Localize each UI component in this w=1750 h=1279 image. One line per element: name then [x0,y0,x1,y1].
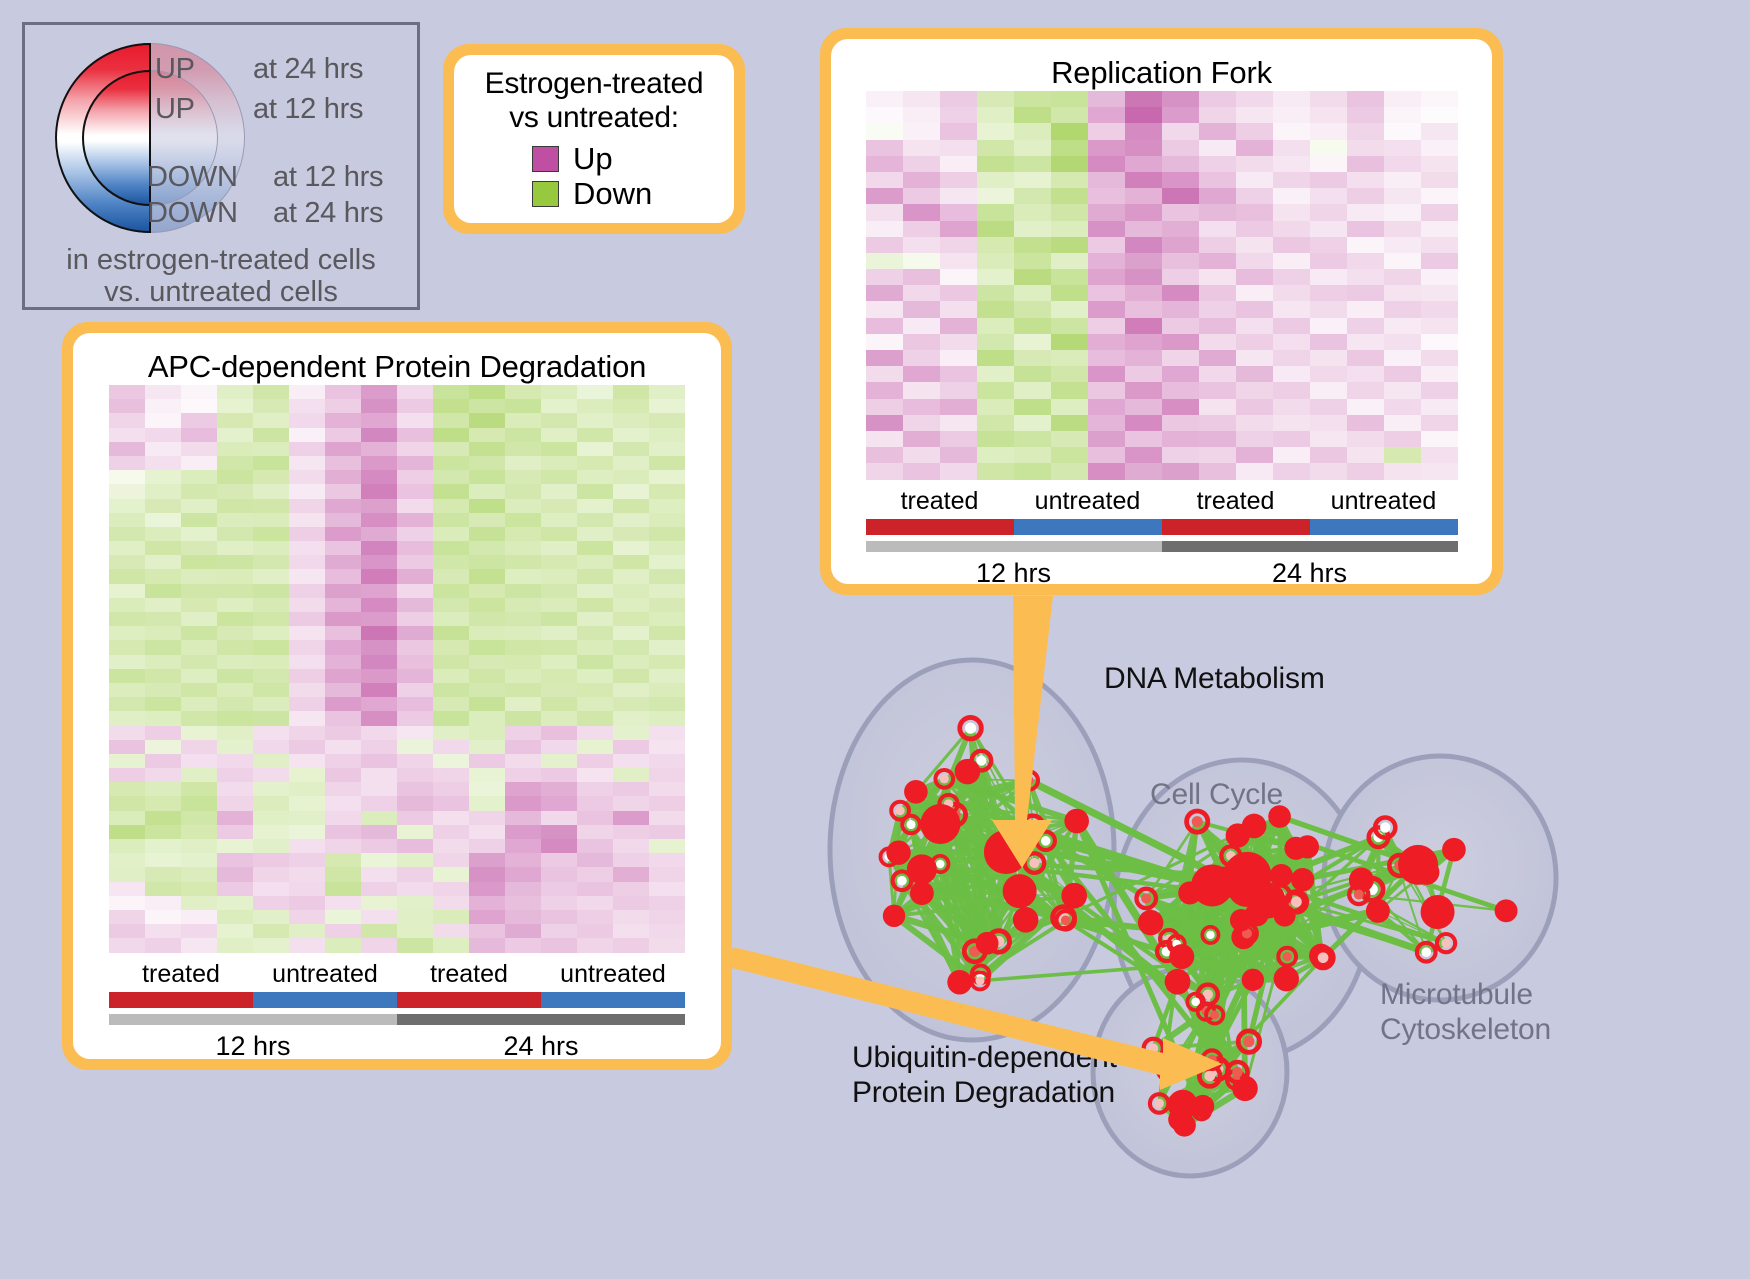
heat-cell [397,413,433,427]
heat-cell [577,683,613,697]
rf-time-bar-12 [866,541,1162,552]
heat-cell [505,399,541,413]
heat-cell [181,385,217,399]
heat-cell [1236,123,1273,139]
heat-cell [940,366,977,382]
heat-cell [361,612,397,626]
heat-cell [1310,366,1347,382]
network-node[interactable] [1495,899,1518,922]
heat-cell [1347,399,1384,415]
heat-cell [505,825,541,839]
network-node[interactable] [1250,882,1286,918]
heat-cell [145,569,181,583]
legend-title-line2: vs untreated: [454,101,734,135]
network-node[interactable] [883,905,905,927]
estrogen-legend-panel: Estrogen-treated vs untreated: Up Down [443,44,745,234]
cluster-label-ubiquitin: Ubiquitin-dependent Protein Degradation [852,1040,1117,1111]
network-node[interactable] [976,932,999,955]
heat-cell [1199,269,1236,285]
apc-group-2: treated [397,960,541,989]
heat-cell [1162,447,1199,463]
heat-cell [903,334,940,350]
heat-cell [397,598,433,612]
heat-cell [253,867,289,881]
network-node[interactable] [1013,907,1039,933]
heat-cell [1014,463,1051,479]
heat-cell [469,442,505,456]
heat-cell [649,782,685,796]
heat-cell [505,484,541,498]
heat-cell [1088,156,1125,172]
heat-cell [289,442,325,456]
heat-cell [181,470,217,484]
heat-cell [325,499,361,513]
heat-cell [433,726,469,740]
heat-cell [577,655,613,669]
heat-cell [433,938,469,952]
heat-cell [505,711,541,725]
heat-cell [325,555,361,569]
network-node-core [920,804,960,844]
heat-cell [109,541,145,555]
heat-cell [1236,156,1273,172]
heat-cell [289,626,325,640]
network-node[interactable] [1064,809,1089,834]
heat-cell [361,726,397,740]
heat-cell [1347,221,1384,237]
heat-cell [1384,415,1421,431]
heat-cell [866,285,903,301]
heat-cell [649,527,685,541]
heat-cell [1125,366,1162,382]
network-node[interactable] [1165,969,1191,995]
heat-cell [1310,463,1347,479]
heat-cell [1347,204,1384,220]
network-node-core [1250,882,1286,918]
heat-cell [253,896,289,910]
heat-cell [289,697,325,711]
heat-cell [940,301,977,317]
heat-cell [649,385,685,399]
heat-cell [469,555,505,569]
heat-cell [577,470,613,484]
heat-cell [1125,188,1162,204]
heat-cell [397,896,433,910]
heat-cell [903,463,940,479]
network-node-core [883,905,905,927]
heat-cell [613,896,649,910]
heat-cell [577,669,613,683]
network-node[interactable] [1398,845,1438,885]
heat-cell [1273,399,1310,415]
heat-cell [1273,301,1310,317]
network-node[interactable] [955,759,981,785]
network-node[interactable] [947,970,972,995]
network-node[interactable] [1442,838,1466,862]
up-swatch-icon [532,146,559,172]
heat-cell [145,584,181,598]
network-node[interactable] [1366,899,1390,923]
heat-cell [1310,172,1347,188]
heat-cell [866,172,903,188]
heat-cell [397,768,433,782]
heat-cell [903,107,940,123]
heat-cell [469,612,505,626]
network-node[interactable] [1291,868,1314,891]
heat-cell [649,839,685,853]
heat-cell [1162,172,1199,188]
heat-cell [217,669,253,683]
heat-cell [217,811,253,825]
heat-cell [505,896,541,910]
heat-cell [1384,463,1421,479]
network-node-core [910,881,934,905]
heat-cell [1310,221,1347,237]
heat-cell [1310,91,1347,107]
heat-cell [109,655,145,669]
heat-cell [397,683,433,697]
heat-cell [649,484,685,498]
heat-cell [181,924,217,938]
heat-cell [541,726,577,740]
heat-cell [253,442,289,456]
heat-cell [433,399,469,413]
network-node-core [965,723,976,734]
network-node-core [1168,1090,1198,1120]
heat-cell [1273,188,1310,204]
heat-cell [253,882,289,896]
heat-cell [1273,91,1310,107]
network-node-core [936,860,945,869]
heat-cell [289,740,325,754]
heat-cell [253,612,289,626]
heat-cell [977,91,1014,107]
heat-cell [541,910,577,924]
heat-cell [253,470,289,484]
network-node[interactable] [1169,944,1194,969]
apc-time-12: 12 hrs [109,1031,397,1060]
heat-cell [469,484,505,498]
network-node[interactable] [1210,866,1242,898]
heat-cell [1125,237,1162,253]
heat-cell [1162,123,1199,139]
heat-cell [361,669,397,683]
heat-cell [361,882,397,896]
network-node-core [1442,838,1466,862]
heat-cell [253,598,289,612]
heat-cell [1051,334,1088,350]
heat-cell [1162,334,1199,350]
heat-cell [469,697,505,711]
heat-cell [433,484,469,498]
heat-cell [541,484,577,498]
network-node[interactable] [907,854,937,884]
heat-cell [289,513,325,527]
heat-cell [361,470,397,484]
rf-bar-treated-12 [866,519,1014,535]
heat-cell [1088,350,1125,366]
heat-cell [1273,463,1310,479]
heat-cell [613,740,649,754]
heat-cell [109,782,145,796]
heat-cell [1051,188,1088,204]
heat-cell [649,513,685,527]
heat-cell [253,640,289,654]
network-node[interactable] [1284,837,1307,860]
heat-cell [1125,447,1162,463]
heat-cell [1125,156,1162,172]
heat-cell [253,584,289,598]
heat-cell [325,669,361,683]
heat-cell [433,569,469,583]
heat-cell [469,882,505,896]
heat-cell [613,385,649,399]
heat-cell [866,366,903,382]
heat-cell [613,825,649,839]
network-node[interactable] [1274,966,1299,991]
heat-cell [577,456,613,470]
heat-cell [1310,301,1347,317]
heat-cell [469,470,505,484]
heat-cell [1310,399,1347,415]
heat-cell [1273,253,1310,269]
heat-cell [361,796,397,810]
heat-cell [397,811,433,825]
heat-cell [613,811,649,825]
heat-cell [577,697,613,711]
heat-cell [613,428,649,442]
heat-cell [289,711,325,725]
heat-cell [541,697,577,711]
heat-cell [613,584,649,598]
heat-cell [613,484,649,498]
heat-cell [866,237,903,253]
heat-cell [1199,107,1236,123]
network-node[interactable] [1242,969,1264,991]
heat-cell [866,140,903,156]
heat-cell [940,172,977,188]
heat-cell [361,896,397,910]
heat-cell [469,754,505,768]
network-node-core [1013,907,1039,933]
heat-cell [469,598,505,612]
heat-cell [397,555,433,569]
heat-cell [289,584,325,598]
heat-cell [289,484,325,498]
heat-cell [541,527,577,541]
heat-cell [1199,237,1236,253]
heat-cell [977,285,1014,301]
heat-cell [613,655,649,669]
heat-cell [1199,431,1236,447]
heat-cell [977,301,1014,317]
cluster-label-cell-cycle: Cell Cycle [1150,778,1283,812]
network-node-core [1274,966,1299,991]
heat-cell [145,541,181,555]
heat-cell [903,285,940,301]
heat-cell [325,484,361,498]
rf-time-24: 24 hrs [1162,558,1458,585]
heat-cell [397,584,433,598]
heat-cell [1125,382,1162,398]
heat-cell [325,626,361,640]
heat-cell [109,640,145,654]
network-node[interactable] [1061,883,1087,909]
network-node[interactable] [910,881,934,905]
heat-cell [1199,188,1236,204]
heat-cell [1347,156,1384,172]
heat-cell [541,584,577,598]
heat-cell [325,683,361,697]
heat-cell [397,569,433,583]
heat-cell [1421,366,1458,382]
network-node[interactable] [1168,1090,1198,1120]
network-node[interactable] [920,804,960,844]
heat-cell [145,470,181,484]
heat-cell [217,612,253,626]
heat-cell [1310,318,1347,334]
heat-cell [866,221,903,237]
heat-cell [613,569,649,583]
network-node[interactable] [886,840,910,864]
heat-cell [145,598,181,612]
heat-cell [433,527,469,541]
heat-cell [1310,350,1347,366]
heat-cell [253,754,289,768]
rf-time-color-bar [866,541,1458,552]
heat-cell [1273,221,1310,237]
heat-cell [1125,318,1162,334]
heat-cell [577,782,613,796]
heat-cell [433,853,469,867]
heat-cell [613,598,649,612]
heat-cell [361,399,397,413]
heat-cell [613,499,649,513]
heat-cell [397,938,433,952]
heat-cell [253,910,289,924]
heat-cell [613,726,649,740]
heat-cell [181,499,217,513]
heat-cell [1051,415,1088,431]
heat-cell [469,896,505,910]
heat-cell [977,366,1014,382]
network-node-core [906,820,915,829]
heat-cell [289,796,325,810]
heat-cell [325,527,361,541]
heat-cell [181,711,217,725]
network-node-core [1148,1043,1158,1053]
heat-cell [217,527,253,541]
heat-cell [325,655,361,669]
heat-cell [1125,285,1162,301]
heat-cell [253,697,289,711]
heat-cell [1236,382,1273,398]
network-node[interactable] [1226,823,1250,847]
heat-cell [1421,204,1458,220]
heat-cell [145,442,181,456]
heat-cell [977,156,1014,172]
heat-cell [145,768,181,782]
heat-cell [1162,91,1199,107]
heat-cell [940,123,977,139]
heat-cell [940,253,977,269]
network-node[interactable] [984,830,1028,874]
legend-title-line1: Estrogen-treated [454,67,734,101]
heat-cell [469,796,505,810]
heat-cell [940,91,977,107]
heat-cell [1199,463,1236,479]
apc-group-3: untreated [541,960,685,989]
network-node[interactable] [1003,874,1037,908]
heat-cell [1236,253,1273,269]
heat-cell [649,499,685,513]
heat-cell [903,447,940,463]
heat-cell [1051,301,1088,317]
heat-cell [613,867,649,881]
heat-cell [577,711,613,725]
heat-cell [181,768,217,782]
heat-cell [181,484,217,498]
heat-cell [977,140,1014,156]
heat-cell [505,626,541,640]
rf-time-bar-24 [1162,541,1458,552]
replication-fork-heatmap [866,91,1458,480]
heat-cell [433,385,469,399]
heat-cell [649,612,685,626]
heat-cell [109,555,145,569]
heat-cell [1162,318,1199,334]
heat-cell [940,156,977,172]
network-node[interactable] [1230,909,1252,931]
heat-cell [1421,350,1458,366]
heat-cell [1384,350,1421,366]
network-svg [790,610,1750,1279]
network-node[interactable] [904,780,928,804]
heat-cell [181,938,217,952]
heat-cell [109,598,145,612]
heat-cell [325,938,361,952]
cluster-label-microtubule: Microtubule Cytoskeleton [1380,977,1551,1048]
network-node[interactable] [1421,895,1455,929]
heat-cell [181,513,217,527]
heat-cell [541,555,577,569]
heat-cell [1014,91,1051,107]
heat-cell [145,413,181,427]
heat-cell [1014,431,1051,447]
heat-cell [1125,253,1162,269]
heat-cell [649,938,685,952]
heat-cell [469,499,505,513]
heat-cell [1347,269,1384,285]
heat-cell [541,640,577,654]
heat-cell [325,768,361,782]
heat-cell [469,867,505,881]
heat-cell [361,910,397,924]
heat-cell [181,640,217,654]
heat-cell [397,456,433,470]
heat-cell [1014,204,1051,220]
heat-cell [577,513,613,527]
heat-cell [433,470,469,484]
heat-cell [181,626,217,640]
heat-cell [289,470,325,484]
network-node[interactable] [1138,910,1164,936]
heat-cell [1421,91,1458,107]
heat-cell [469,640,505,654]
heat-cell [253,796,289,810]
heat-cell [145,782,181,796]
heat-cell [433,456,469,470]
